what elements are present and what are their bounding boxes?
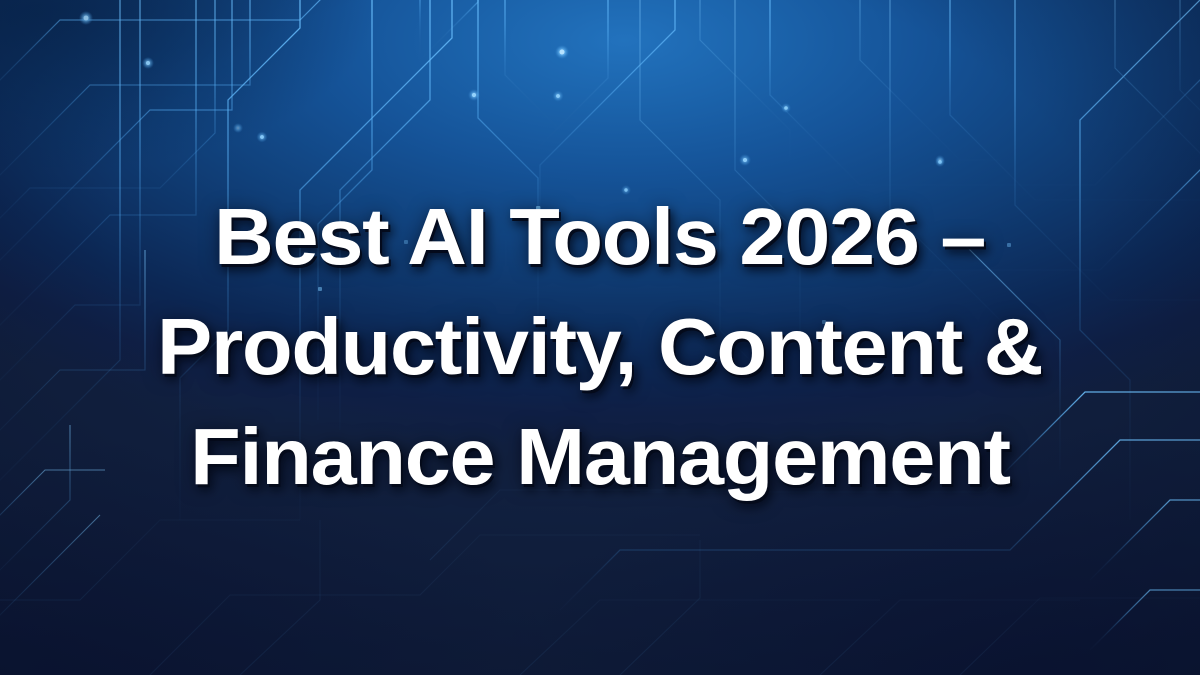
page-title: Best AI Tools 2026 – Productivity, Conte…: [0, 0, 1200, 675]
title-line-1: Best AI Tools 2026 –: [214, 182, 985, 292]
hero-banner: Best AI Tools 2026 – Productivity, Conte…: [0, 0, 1200, 675]
title-line-3: Finance Management: [190, 402, 1010, 512]
title-line-2: Productivity, Content &: [157, 292, 1042, 402]
